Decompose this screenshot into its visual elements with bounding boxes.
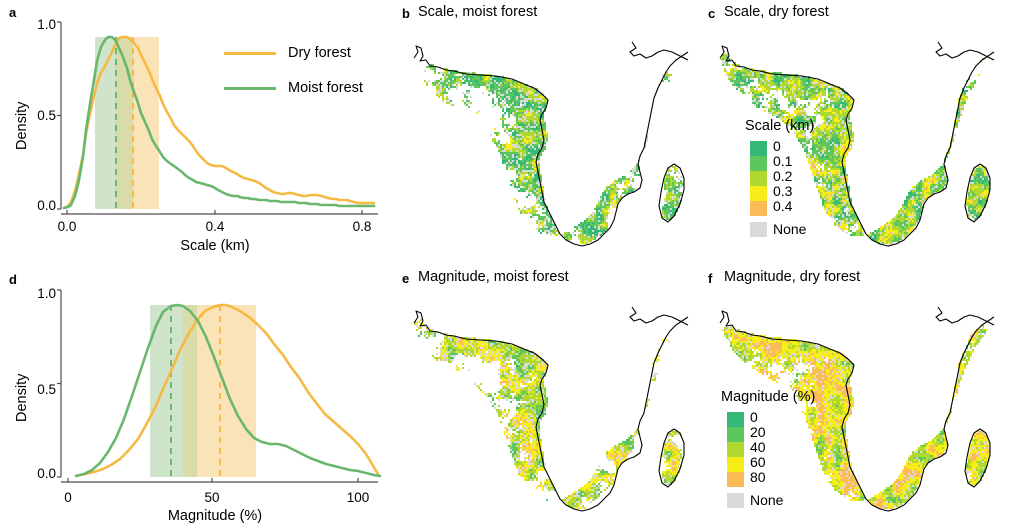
panel-c-letter: c bbox=[708, 7, 715, 20]
panel-a-xtick-3: 0.8 bbox=[342, 219, 382, 234]
panel-f-legend-label-0: 0 bbox=[750, 410, 758, 424]
panel-f-legend-swatch-2 bbox=[727, 442, 744, 457]
panel-d: d 1.0 0.5 0.0 Density 0 50 100 Magnitude… bbox=[0, 262, 395, 527]
panel-c-legend-swatch-none bbox=[750, 222, 767, 237]
panel-c-legend-label-1: 0.1 bbox=[773, 154, 792, 168]
panel-f-legend-label-4: 80 bbox=[750, 470, 766, 484]
panel-f-legend-swatch-0 bbox=[727, 412, 744, 427]
panel-f-legend-label-none: None bbox=[750, 493, 783, 507]
panel-b-letter: b bbox=[402, 7, 410, 20]
panel-c-legend-title: Scale (km) bbox=[745, 118, 814, 134]
panel-c-legend-swatch-3 bbox=[750, 186, 767, 201]
panel-f-legend-title: Magnitude (%) bbox=[721, 389, 815, 405]
panel-d-xtick-1: 0 bbox=[53, 490, 83, 505]
panel-d-plot bbox=[0, 262, 395, 487]
panel-a-xtick-2: 0.4 bbox=[195, 219, 235, 234]
panel-f-legend-label-3: 60 bbox=[750, 455, 766, 469]
panel-f-letter: f bbox=[708, 272, 712, 285]
panel-b-map bbox=[396, 22, 703, 262]
panel-a-legend-label-dry: Dry forest bbox=[288, 45, 351, 61]
panel-a-plot bbox=[0, 0, 395, 216]
panel-a: a 1.0 0.5 0.0 Density 0.0 0.4 0.8 Scale … bbox=[0, 0, 395, 260]
panel-c-legend-label-4: 0.4 bbox=[773, 199, 792, 213]
panel-e-map bbox=[396, 287, 703, 527]
panel-d-xlabel: Magnitude (%) bbox=[130, 508, 300, 524]
panel-f-map bbox=[702, 287, 1009, 527]
panel-a-legend-swatch-dry bbox=[224, 52, 276, 55]
panel-a-legend-swatch-moist bbox=[224, 87, 276, 90]
panel-c-legend-label-2: 0.2 bbox=[773, 169, 792, 183]
figure-root: a 1.0 0.5 0.0 Density 0.0 0.4 0.8 Scale … bbox=[0, 0, 1009, 527]
panel-f-legend-swatch-none bbox=[727, 493, 744, 508]
panel-e: e Magnitude, moist forest bbox=[396, 262, 703, 527]
panel-a-xlabel: Scale (km) bbox=[145, 238, 285, 254]
panel-b-pixel-layer bbox=[424, 64, 684, 244]
panel-f-legend-swatch-3 bbox=[727, 457, 744, 472]
panel-e-title: Magnitude, moist forest bbox=[418, 270, 569, 285]
panel-a-legend-label-moist: Moist forest bbox=[288, 80, 363, 96]
panel-f: f Magnitude, dry forest Magnitude (%) 0 … bbox=[702, 262, 1009, 527]
panel-c-legend-swatch-4 bbox=[750, 201, 767, 216]
panel-f-legend-swatch-1 bbox=[727, 427, 744, 442]
panel-c-legend-label-none: None bbox=[773, 222, 806, 236]
panel-c-legend-swatch-2 bbox=[750, 171, 767, 186]
panel-b-title: Scale, moist forest bbox=[418, 5, 537, 20]
panel-c-title: Scale, dry forest bbox=[724, 5, 829, 20]
panel-c-legend-label-0: 0 bbox=[773, 139, 781, 153]
panel-c-legend-label-3: 0.3 bbox=[773, 184, 792, 198]
panel-f-legend-swatch-4 bbox=[727, 472, 744, 487]
panel-f-title: Magnitude, dry forest bbox=[724, 270, 860, 285]
panel-c-legend-swatch-0 bbox=[750, 141, 767, 156]
panel-e-letter: e bbox=[402, 272, 409, 285]
panel-c-legend-swatch-1 bbox=[750, 156, 767, 171]
panel-a-xtick-1: 0.0 bbox=[47, 219, 87, 234]
panel-d-xtick-2: 50 bbox=[197, 490, 227, 505]
panel-c: c Scale, dry forest Scale (km) 0 0.1 0. bbox=[702, 0, 1009, 262]
panel-f-legend-label-1: 20 bbox=[750, 425, 766, 439]
panel-b: b Scale, moist forest bbox=[396, 0, 703, 262]
panel-d-xtick-3: 100 bbox=[343, 490, 373, 505]
panel-c-map bbox=[702, 22, 1009, 262]
panel-f-legend-label-2: 40 bbox=[750, 440, 766, 454]
